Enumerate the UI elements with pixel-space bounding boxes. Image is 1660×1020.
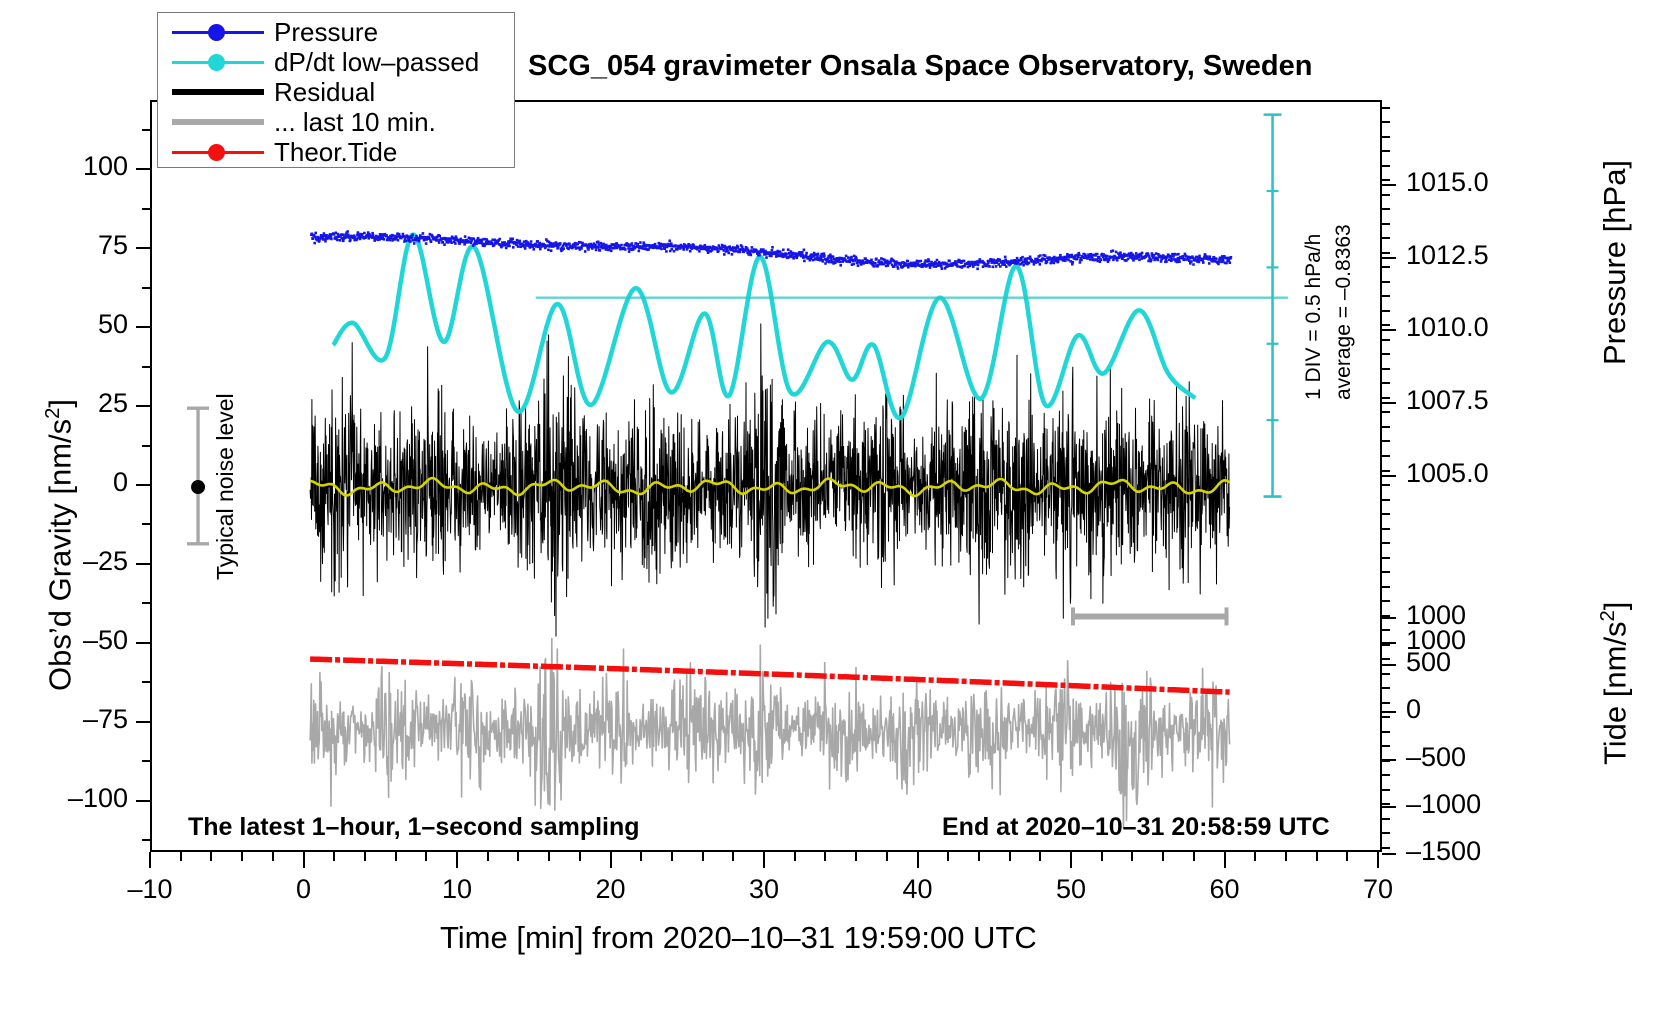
y-tick-left-7: –75 — [0, 704, 128, 735]
axis-tick — [1382, 426, 1390, 428]
y-tick-left-2: 50 — [0, 309, 128, 340]
axis-tick — [548, 852, 550, 861]
axis-tick — [1382, 702, 1390, 704]
axis-tick — [1316, 852, 1318, 861]
axis-tick — [1382, 470, 1390, 472]
y-tick-left-1: 75 — [0, 230, 128, 261]
plot-area — [150, 100, 1382, 852]
x-tick-7: 60 — [1165, 874, 1285, 905]
axis-tick — [1382, 368, 1390, 370]
axis-tick — [142, 484, 150, 486]
y-tick-pressure-0: 1015.0 — [1406, 167, 1489, 198]
axis-tick — [1382, 586, 1390, 588]
dpdt-average-annotation: average = –0.8363 — [1332, 224, 1356, 400]
axis-tick — [1382, 402, 1396, 404]
axis-tick — [487, 852, 489, 861]
legend-item-3[interactable]: ... last 10 min. — [172, 107, 514, 137]
axis-tick — [1382, 455, 1390, 457]
axis-tick — [1070, 852, 1072, 861]
axis-tick — [824, 852, 826, 861]
axis-tick — [1382, 644, 1390, 646]
axis-tick — [142, 602, 150, 604]
axis-tick — [142, 405, 150, 407]
axis-tick — [855, 852, 857, 861]
axis-tick — [1193, 852, 1195, 861]
axis-tick — [763, 852, 765, 861]
chart-title: SCG_054 gravimeter Onsala Space Observat… — [528, 50, 1312, 83]
axis-tick — [1162, 852, 1164, 861]
axis-tick — [579, 852, 581, 861]
axis-tick — [333, 852, 335, 861]
y-tick-left-0: 100 — [0, 151, 128, 182]
axis-tick — [1382, 237, 1390, 239]
axis-tick — [1382, 223, 1390, 225]
chart-page: SCG_054 gravimeter Onsala Space Observat… — [0, 0, 1660, 1020]
axis-tick — [1382, 745, 1390, 747]
y-tick-tide-3: –500 — [1406, 742, 1466, 773]
legend-line-dot-icon — [172, 47, 264, 77]
axis-tick — [1382, 208, 1390, 210]
axis-tick — [886, 852, 888, 861]
axis-tick — [142, 366, 150, 368]
y-tick-pressure-2: 1010.0 — [1406, 312, 1489, 343]
axis-tick — [142, 445, 150, 447]
x-tick-2: 10 — [397, 874, 517, 905]
axis-tick — [1382, 513, 1390, 515]
y-tick-left-8: –100 — [0, 783, 128, 814]
axis-tick — [671, 852, 673, 861]
axis-tick — [917, 852, 919, 861]
legend-item-4[interactable]: Theor.Tide — [172, 137, 514, 167]
axis-tick — [1382, 484, 1390, 486]
x-tick-4: 30 — [704, 874, 824, 905]
legend-label: dP/dt low–passed — [274, 47, 479, 78]
axis-tick — [1382, 760, 1390, 762]
x-tick-1: 0 — [244, 874, 364, 905]
axis-tick — [1382, 629, 1390, 631]
axis-tick — [1382, 411, 1390, 413]
x-axis-title: Time [min] from 2020–10–31 19:59:00 UTC — [440, 920, 1037, 956]
y-tick-tide-5: –1500 — [1406, 836, 1481, 867]
axis-tick — [1285, 852, 1287, 861]
axis-tick — [1382, 329, 1396, 331]
axis-tick — [610, 852, 612, 861]
legend-label: Residual — [274, 77, 375, 108]
axis-tick — [142, 642, 150, 644]
axis-tick — [1382, 179, 1390, 181]
axis-tick — [1377, 852, 1379, 861]
axis-tick — [142, 721, 150, 723]
plot-canvas — [152, 102, 1380, 850]
axis-tick — [1382, 475, 1396, 477]
legend-item-0[interactable]: Pressure — [172, 17, 514, 47]
legend-label: Pressure — [274, 17, 378, 48]
axis-tick — [1382, 107, 1390, 109]
axis-tick — [517, 852, 519, 861]
axis-tick — [1382, 853, 1396, 855]
x-tick-0: –10 — [90, 874, 210, 905]
axis-tick — [1382, 528, 1390, 530]
axis-tick — [1382, 194, 1390, 196]
axis-tick — [142, 208, 150, 210]
axis-tick — [142, 800, 150, 802]
axis-tick — [1346, 852, 1348, 861]
axis-tick — [1382, 310, 1390, 312]
axis-tick — [978, 852, 980, 861]
axis-tick — [1382, 150, 1390, 152]
legend-line-icon — [172, 107, 264, 137]
axis-tick — [1382, 832, 1390, 834]
axis-tick — [142, 839, 150, 841]
axis-tick — [1382, 716, 1390, 718]
legend: PressuredP/dt low–passedResidual... last… — [157, 12, 515, 168]
axis-tick — [142, 760, 150, 762]
legend-label: Theor.Tide — [274, 137, 397, 168]
axis-tick — [1382, 295, 1390, 297]
axis-tick — [1382, 353, 1390, 355]
axis-tick — [1382, 542, 1390, 544]
axis-tick — [180, 852, 182, 861]
axis-tick — [142, 681, 150, 683]
y-axis-left-title: Obs’d Gravity [nm/s2] — [42, 399, 78, 691]
y-axis-right-pressure-title: Pressure [hPa] — [1597, 160, 1633, 365]
axis-tick — [1101, 852, 1103, 861]
legend-item-1[interactable]: dP/dt low–passed — [172, 47, 514, 77]
x-tick-3: 20 — [551, 874, 671, 905]
y-axis-right-tide-title: Tide [nm/s2] — [1597, 602, 1633, 765]
axis-tick — [142, 129, 150, 131]
axis-tick — [1382, 774, 1390, 776]
axis-tick — [1382, 252, 1390, 254]
axis-tick — [1382, 673, 1390, 675]
x-tick-8: 70 — [1318, 874, 1438, 905]
axis-tick — [1382, 617, 1396, 619]
axis-tick — [702, 852, 704, 861]
axis-tick — [1382, 136, 1390, 138]
axis-tick — [456, 852, 458, 861]
axis-tick — [364, 852, 366, 861]
axis-tick — [1382, 664, 1396, 666]
axis-tick — [1382, 165, 1390, 167]
legend-label: ... last 10 min. — [274, 107, 436, 138]
axis-tick — [732, 852, 734, 861]
axis-tick — [142, 287, 150, 289]
axis-tick — [794, 852, 796, 861]
axis-tick — [1382, 557, 1390, 559]
y-tick-tide-0: 1000 — [1406, 600, 1466, 631]
axis-tick — [1382, 600, 1390, 602]
axis-tick — [1131, 852, 1133, 861]
axis-tick — [1382, 806, 1396, 808]
axis-tick — [1382, 499, 1390, 501]
axis-tick — [1382, 339, 1390, 341]
axis-tick — [142, 168, 150, 170]
legend-item-2[interactable]: Residual — [172, 77, 514, 107]
axis-tick — [1382, 324, 1390, 326]
axis-tick — [1009, 852, 1011, 861]
axis-tick — [1382, 847, 1390, 849]
axis-tick — [425, 852, 427, 861]
axis-tick — [1254, 852, 1256, 861]
axis-tick — [1382, 440, 1390, 442]
y-tick-tide-4: –1000 — [1406, 789, 1481, 820]
axis-tick — [142, 563, 150, 565]
y-tick-pressure-3: 1007.5 — [1406, 385, 1489, 416]
axis-tick — [142, 247, 150, 249]
axis-tick — [1224, 852, 1226, 861]
axis-tick — [1382, 266, 1390, 268]
axis-tick — [272, 852, 274, 861]
axis-tick — [1382, 711, 1396, 713]
axis-tick — [149, 852, 151, 861]
y-tick-pressure-4: 1005.0 — [1406, 458, 1489, 489]
legend-line-dot-icon — [172, 17, 264, 47]
axis-tick — [1382, 571, 1390, 573]
axis-tick — [1382, 803, 1390, 805]
end-time-note: End at 2020–10–31 20:58:59 UTC — [942, 813, 1330, 842]
legend-line-dot-icon — [172, 137, 264, 167]
x-tick-5: 40 — [858, 874, 978, 905]
axis-tick — [210, 852, 212, 861]
axis-tick — [241, 852, 243, 861]
axis-tick — [947, 852, 949, 861]
axis-tick — [1382, 818, 1390, 820]
axis-tick — [1382, 397, 1390, 399]
y-tick-tide-2: 0 — [1406, 694, 1421, 725]
axis-tick — [1382, 687, 1390, 689]
axis-tick — [1382, 184, 1396, 186]
axis-tick — [1382, 615, 1390, 617]
axis-tick — [395, 852, 397, 861]
x-tick-6: 50 — [1011, 874, 1131, 905]
axis-tick — [1382, 658, 1390, 660]
typical-noise-level-label: Typical noise level — [212, 393, 239, 580]
axis-tick — [142, 523, 150, 525]
y-tick-pressure-1: 1012.5 — [1406, 240, 1489, 271]
axis-tick — [1382, 257, 1396, 259]
axis-tick — [303, 852, 305, 861]
axis-tick — [1382, 731, 1390, 733]
legend-line-icon — [172, 77, 264, 107]
y-tick-tide-1: 500 — [1406, 647, 1451, 678]
axis-tick — [1382, 382, 1390, 384]
dpdt-scale-annotation: 1 DIV = 0.5 hPa/h — [1302, 234, 1326, 400]
axis-tick — [1382, 121, 1390, 123]
axis-tick — [1382, 789, 1390, 791]
axis-tick — [142, 326, 150, 328]
axis-tick — [1039, 852, 1041, 861]
axis-tick — [1382, 281, 1390, 283]
sampling-note: The latest 1–hour, 1–second sampling — [188, 813, 640, 842]
axis-tick — [640, 852, 642, 861]
